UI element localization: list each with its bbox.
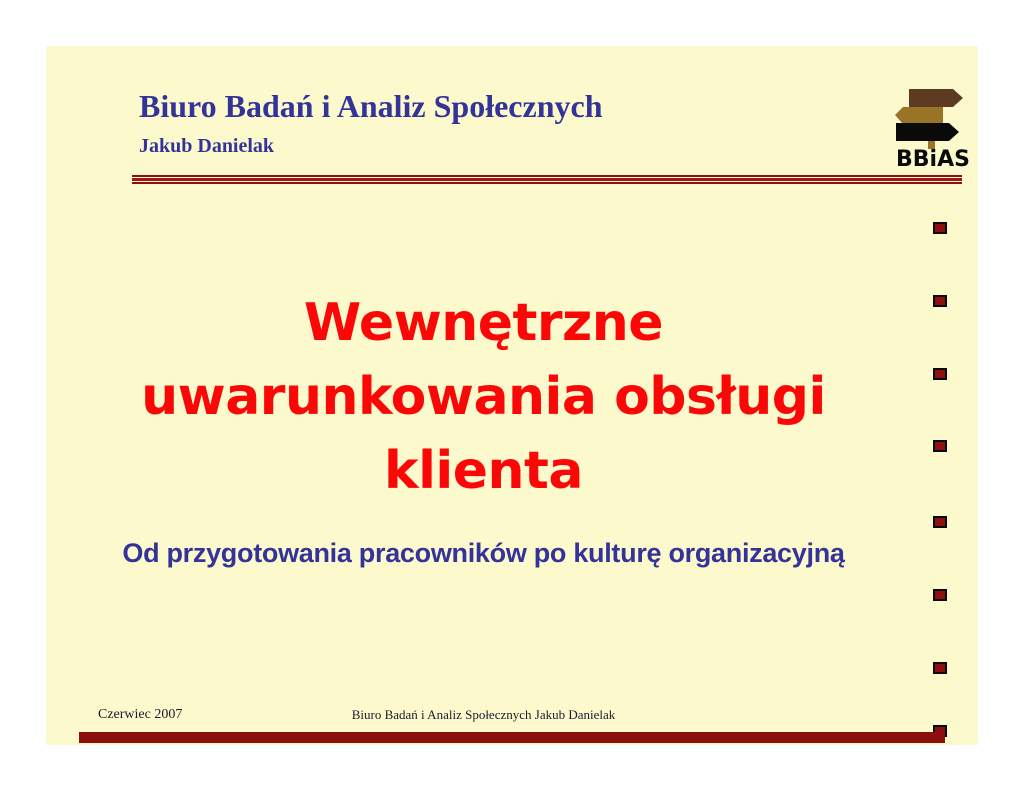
main-title-line-2: uwarunkowania obsługi klienta <box>46 360 921 508</box>
footer-center-text: Biuro Badań i Analiz Społecznych Jakub D… <box>46 707 921 723</box>
rule-line-bottom <box>132 182 962 184</box>
header-divider-rule <box>132 175 962 184</box>
bullet-marker-square <box>933 516 947 528</box>
logo-wordmark: BBiAS <box>896 147 970 172</box>
signpost-icon: BBiAS <box>891 79 976 172</box>
rule-line-top <box>132 175 962 177</box>
bullet-marker-square <box>933 440 947 452</box>
slide-canvas: Biuro Badań i Analiz Społecznych Jakub D… <box>46 46 978 745</box>
slide-subtitle: Od przygotowania pracowników po kulturę … <box>46 537 921 569</box>
rule-line-middle <box>132 178 962 181</box>
bullet-marker-square <box>933 662 947 674</box>
bullet-marker-square <box>933 295 947 307</box>
footer-accent-bar <box>79 732 945 743</box>
bbias-signpost-logo: BBiAS <box>891 79 976 172</box>
bullet-marker-square <box>933 222 947 234</box>
bullet-marker-square <box>933 589 947 601</box>
author-name: Jakub Danielak <box>139 135 274 157</box>
main-title-line-1: Wewnętrzne <box>46 286 921 360</box>
slide-header: Biuro Badań i Analiz Społecznych Jakub D… <box>46 46 978 186</box>
bullet-marker-square <box>933 368 947 380</box>
organization-title: Biuro Badań i Analiz Społecznych <box>139 89 603 123</box>
slide-main-title: Wewnętrzne uwarunkowania obsługi klienta <box>46 286 921 508</box>
